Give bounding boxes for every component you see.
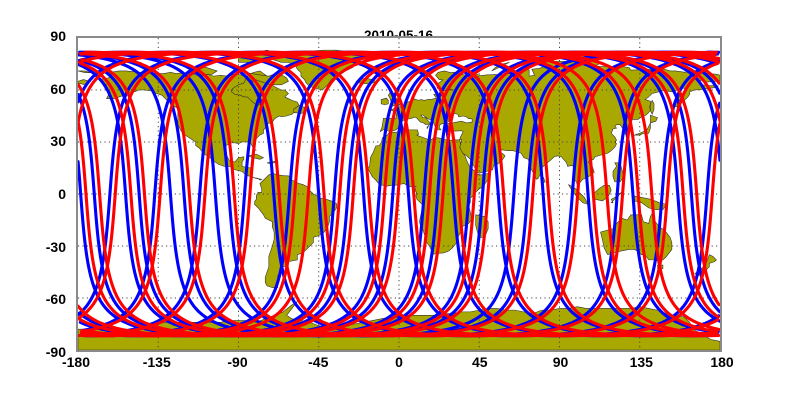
map-canvas — [78, 38, 720, 350]
x-tick-label: 0 — [364, 354, 434, 370]
y-tick-label: 60 — [8, 81, 66, 97]
landmass-sakhalin — [650, 100, 654, 114]
map-plot-area — [76, 36, 722, 352]
y-tick-label: 0 — [8, 186, 66, 202]
y-tick-label: -30 — [8, 239, 66, 255]
x-tick-label: 90 — [526, 354, 596, 370]
y-tick-label: -60 — [8, 291, 66, 307]
landmass-cuba — [247, 154, 263, 159]
x-tick-label: -180 — [41, 354, 111, 370]
x-tick-label: -45 — [283, 354, 353, 370]
x-tick-label: 135 — [606, 354, 676, 370]
x-tick-label: 180 — [687, 354, 757, 370]
landmass-ireland — [381, 98, 388, 105]
x-tick-label: -135 — [122, 354, 192, 370]
groundtrack-figure: 2010-05-16 Version: 5.00 Standard Red is… — [0, 0, 800, 400]
x-tick-label: -90 — [203, 354, 273, 370]
y-tick-label: 90 — [8, 28, 66, 44]
x-tick-label: 45 — [445, 354, 515, 370]
y-tick-label: 30 — [8, 133, 66, 149]
